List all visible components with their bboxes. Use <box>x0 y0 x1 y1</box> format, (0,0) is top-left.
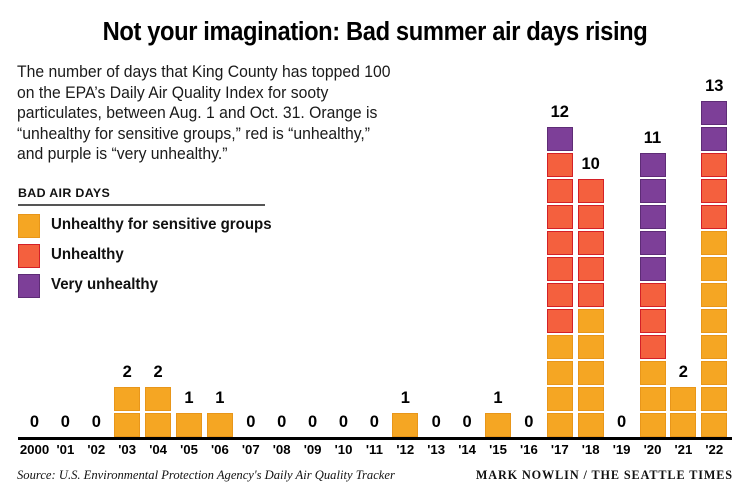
bar-segment-orange <box>485 413 511 437</box>
bar-segment-orange <box>578 387 604 411</box>
stacked-bar <box>485 411 511 437</box>
bar-value-label: 1 <box>478 389 518 408</box>
deck-line-1: The number of days that King County has … <box>17 62 430 83</box>
bar-segment-orange <box>578 361 604 385</box>
source-note: Source: U.S. Environmental Protection Ag… <box>17 468 395 483</box>
bar-segment-orange <box>701 361 727 385</box>
x-axis-year-label: '16 <box>509 442 549 457</box>
bar-segment-orange <box>547 335 573 359</box>
bar-segment-red <box>547 153 573 177</box>
bar-segment-orange <box>114 387 140 411</box>
bar-segment-orange <box>670 387 696 411</box>
bar-segment-orange <box>640 387 666 411</box>
bar-segment-orange <box>701 309 727 333</box>
byline-credit: MARK NOWLIN / THE SEATTLE TIMES <box>476 468 733 483</box>
x-axis-year-label: '22 <box>694 442 734 457</box>
x-axis-year-label: '15 <box>478 442 518 457</box>
bar-segment-red <box>578 283 604 307</box>
stacked-bar <box>114 385 140 437</box>
bar-value-label: 12 <box>540 103 580 122</box>
deck-line-5: and purple is “very unhealthy.” <box>17 144 430 165</box>
x-axis-year-label: '20 <box>633 442 673 457</box>
bar-value-label: 10 <box>571 155 611 174</box>
x-axis-year-label: '21 <box>663 442 703 457</box>
bar-segment-orange <box>578 413 604 437</box>
bar-value-label: 0 <box>76 413 116 432</box>
stacked-bar <box>145 385 171 437</box>
bar-segment-orange <box>547 413 573 437</box>
bar-value-label: 0 <box>262 413 302 432</box>
legend-heading: BAD AIR DAYS <box>18 186 280 204</box>
x-axis-year-label: '12 <box>385 442 425 457</box>
bar-segment-orange <box>207 413 233 437</box>
x-axis-year-label: '09 <box>293 442 333 457</box>
stacked-bar <box>640 151 666 437</box>
legend-swatch-red-icon <box>18 244 40 268</box>
bar-segment-orange <box>578 335 604 359</box>
bar-value-label: 0 <box>416 413 456 432</box>
bar-value-label: 2 <box>663 363 703 382</box>
deck-line-3: particulates, between Aug. 1 and Oct. 31… <box>17 103 430 124</box>
legend-divider <box>18 204 265 206</box>
legend-label-purple: Very unhealthy <box>51 276 158 294</box>
bar-segment-purple <box>640 153 666 177</box>
bar-segment-purple <box>640 231 666 255</box>
x-axis-line <box>18 437 732 440</box>
bar-segment-orange <box>701 257 727 281</box>
bar-value-label: 0 <box>293 413 333 432</box>
legend-label-red: Unhealthy <box>51 246 124 264</box>
bar-value-label: 0 <box>509 413 549 432</box>
bar-segment-purple <box>640 257 666 281</box>
x-axis-year-label: '01 <box>45 442 85 457</box>
bar-segment-orange <box>701 387 727 411</box>
bar-segment-orange <box>640 361 666 385</box>
bar-value-label: 2 <box>138 363 178 382</box>
legend-item-unhealthy: Unhealthy <box>18 241 280 269</box>
bar-value-label: 0 <box>45 413 85 432</box>
legend-item-unhealthy-sensitive: Unhealthy for sensitive groups <box>18 211 280 239</box>
bar-segment-purple <box>701 127 727 151</box>
bar-segment-red <box>547 231 573 255</box>
bar-value-label: 1 <box>169 389 209 408</box>
x-axis-year-label: '11 <box>354 442 394 457</box>
legend-label-orange: Unhealthy for sensitive groups <box>51 216 272 234</box>
bar-segment-orange <box>701 335 727 359</box>
bar-segment-orange <box>701 283 727 307</box>
bar-segment-red <box>547 205 573 229</box>
stacked-bar <box>547 125 573 437</box>
page-title: Not your imagination: Bad summer air day… <box>26 18 724 47</box>
bar-segment-red <box>578 257 604 281</box>
legend-swatch-purple-icon <box>18 274 40 298</box>
x-axis-year-label: '06 <box>200 442 240 457</box>
deck-line-4: “unhealthy for sensitive groups,” red is… <box>17 124 430 145</box>
x-axis-year-label: '10 <box>324 442 364 457</box>
bar-value-label: 0 <box>324 413 364 432</box>
bar-segment-orange <box>145 413 171 437</box>
bar-segment-orange <box>145 387 171 411</box>
bar-value-label: 13 <box>694 77 734 96</box>
x-axis-year-label: '05 <box>169 442 209 457</box>
bar-segment-red <box>547 309 573 333</box>
bar-segment-red <box>547 257 573 281</box>
bar-value-label: 0 <box>231 413 271 432</box>
deck-line-2: on the EPA’s Daily Air Quality Index for… <box>17 83 430 104</box>
bar-segment-purple <box>547 127 573 151</box>
bar-value-label: 0 <box>447 413 487 432</box>
bar-segment-orange <box>640 413 666 437</box>
stacked-bar <box>176 411 202 437</box>
bar-segment-orange <box>176 413 202 437</box>
bar-segment-red <box>701 153 727 177</box>
x-axis-year-label: '13 <box>416 442 456 457</box>
bar-segment-red <box>547 283 573 307</box>
x-axis-year-label: 2000 <box>15 442 55 457</box>
stacked-bar <box>578 177 604 437</box>
bar-segment-orange <box>392 413 418 437</box>
stacked-bar <box>701 99 727 437</box>
bar-segment-red <box>640 309 666 333</box>
bar-segment-red <box>578 179 604 203</box>
bar-segment-red <box>640 283 666 307</box>
bar-segment-red <box>547 179 573 203</box>
bar-segment-orange <box>547 361 573 385</box>
bar-value-label: 1 <box>385 389 425 408</box>
x-axis-year-label: '18 <box>571 442 611 457</box>
x-axis-year-label: '03 <box>107 442 147 457</box>
x-axis-year-label: '04 <box>138 442 178 457</box>
bar-segment-orange <box>701 413 727 437</box>
x-axis-year-label: '02 <box>76 442 116 457</box>
legend-swatch-orange-icon <box>18 214 40 238</box>
bar-segment-red <box>578 231 604 255</box>
x-axis-year-label: '14 <box>447 442 487 457</box>
x-axis-year-label: '08 <box>262 442 302 457</box>
bar-segment-purple <box>640 179 666 203</box>
bar-segment-red <box>578 205 604 229</box>
bar-segment-orange <box>114 413 140 437</box>
bar-value-label: 2 <box>107 363 147 382</box>
bar-value-label: 1 <box>200 389 240 408</box>
bar-segment-red <box>640 335 666 359</box>
x-axis-year-label: '07 <box>231 442 271 457</box>
bar-segment-orange <box>670 413 696 437</box>
bar-segment-red <box>701 179 727 203</box>
stacked-bar <box>392 411 418 437</box>
bar-segment-red <box>701 205 727 229</box>
stacked-bar <box>207 411 233 437</box>
bar-value-label: 0 <box>15 413 55 432</box>
x-axis-year-label: '19 <box>602 442 642 457</box>
bar-segment-orange <box>578 309 604 333</box>
bar-segment-orange <box>547 387 573 411</box>
bar-segment-orange <box>701 231 727 255</box>
bar-value-label: 0 <box>602 413 642 432</box>
bar-segment-purple <box>701 101 727 125</box>
deck-text: The number of days that King County has … <box>17 62 430 165</box>
bar-segment-purple <box>640 205 666 229</box>
x-axis-year-label: '17 <box>540 442 580 457</box>
infographic-page: Not your imagination: Bad summer air day… <box>0 0 750 500</box>
legend-item-very-unhealthy: Very unhealthy <box>18 271 280 299</box>
bar-value-label: 11 <box>633 129 673 148</box>
stacked-bar <box>670 385 696 437</box>
bar-value-label: 0 <box>354 413 394 432</box>
chart-legend: BAD AIR DAYS Unhealthy for sensitive gro… <box>18 186 280 301</box>
